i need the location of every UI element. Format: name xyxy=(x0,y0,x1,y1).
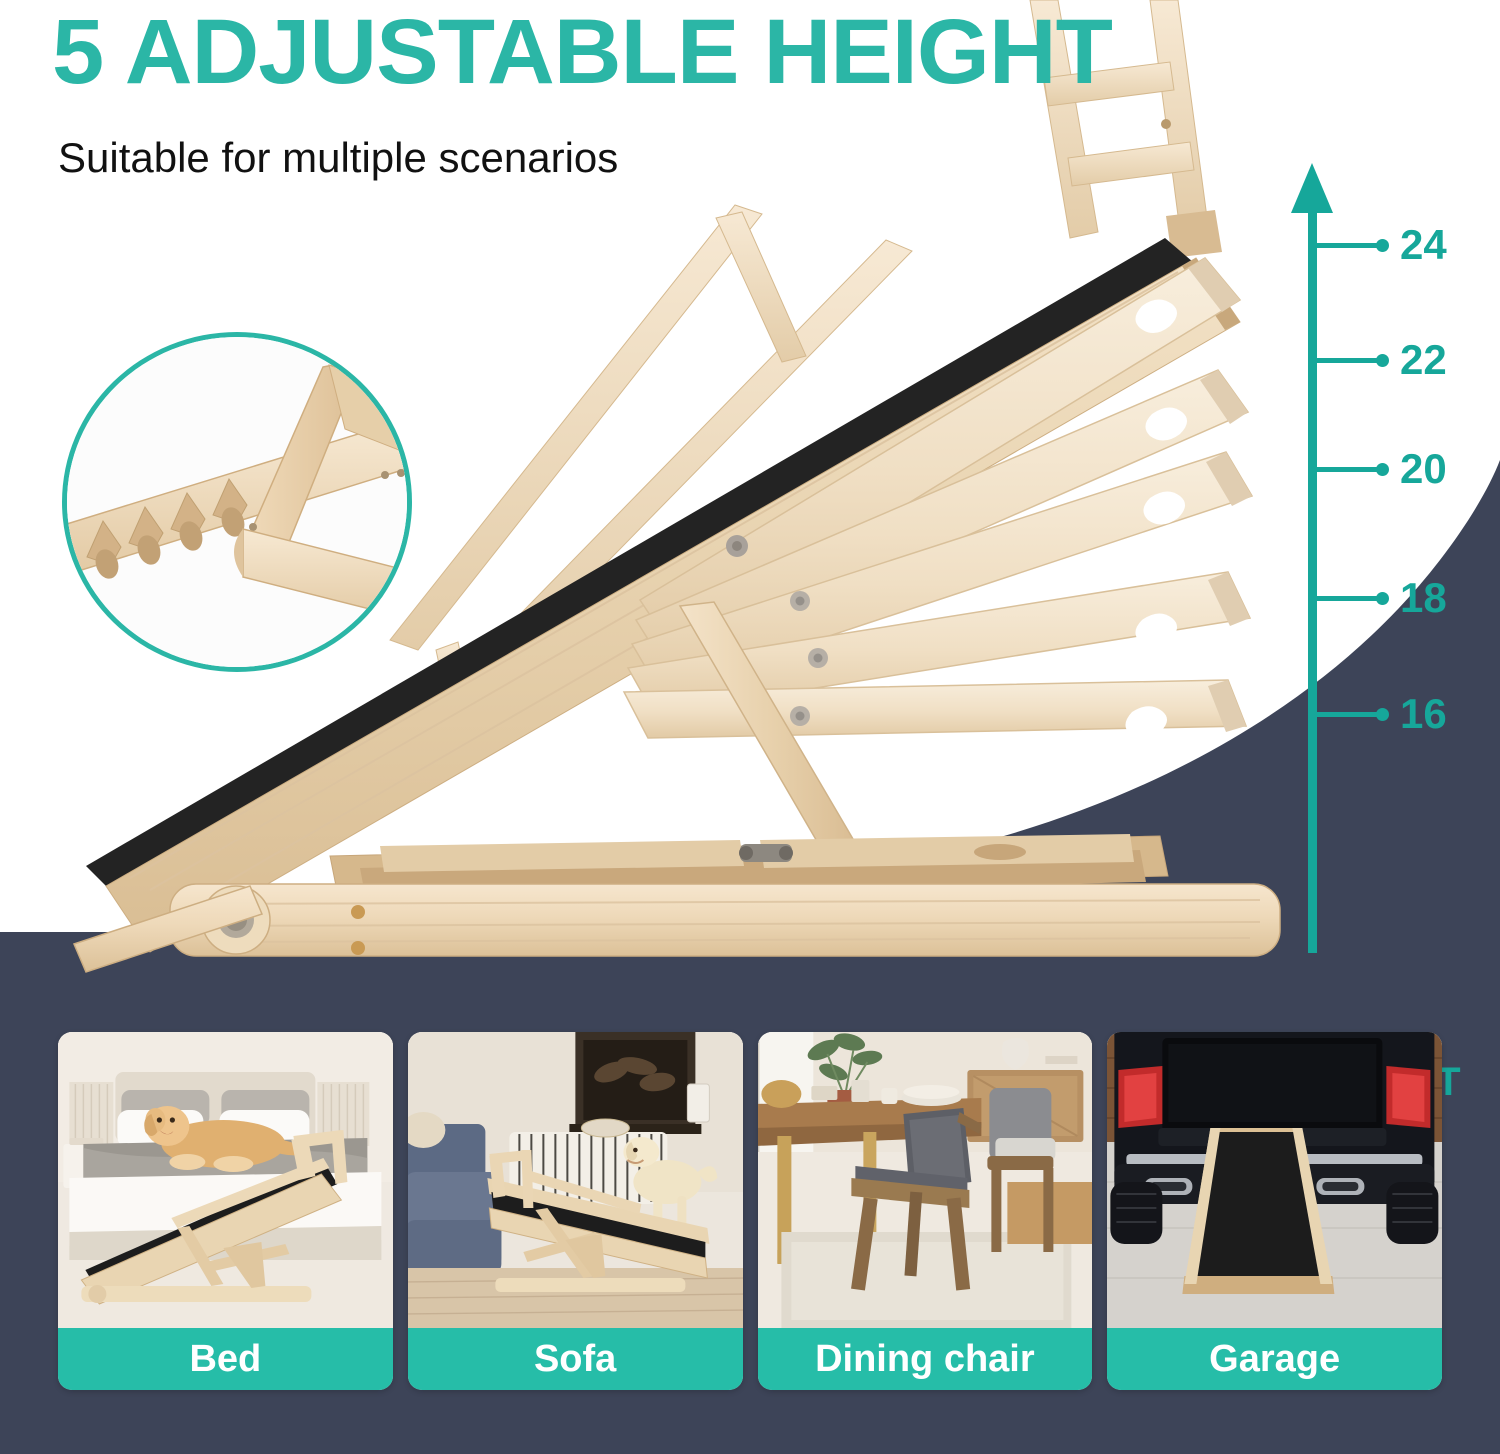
scenario-card-row: Bed xyxy=(0,1032,1500,1392)
tick-mark xyxy=(1312,467,1380,472)
scenario-photo-sofa xyxy=(408,1032,743,1328)
scenario-photo-bed xyxy=(58,1032,393,1328)
scenario-label-sofa: Sofa xyxy=(408,1328,743,1390)
scenario-card-dining-chair[interactable]: Dining chair xyxy=(758,1032,1093,1390)
tick-dot-icon xyxy=(1376,354,1389,367)
scenario-label-garage: Garage xyxy=(1107,1328,1442,1390)
scenario-card-bed[interactable]: Bed xyxy=(58,1032,393,1390)
tick-label: 20 xyxy=(1400,448,1447,490)
scenario-photo-dining-chair xyxy=(758,1032,1093,1328)
tick-label: 18 xyxy=(1400,577,1447,619)
tick-label: 16 xyxy=(1400,693,1447,735)
tick-mark xyxy=(1312,712,1380,717)
axis-line xyxy=(1308,208,1317,953)
tick-dot-icon xyxy=(1376,708,1389,721)
tick-label: 24 xyxy=(1400,224,1447,266)
scenario-label-bed: Bed xyxy=(58,1328,393,1390)
scenario-card-garage[interactable]: Garage xyxy=(1107,1032,1442,1390)
axis-arrow-icon xyxy=(1291,163,1333,213)
height-scale: 24 22 20 18 16 HEIGHT xyxy=(1280,160,1500,960)
tick-dot-icon xyxy=(1376,592,1389,605)
scenario-photo-garage xyxy=(1107,1032,1442,1328)
tick-dot-icon xyxy=(1376,239,1389,252)
scenario-label-dining-chair: Dining chair xyxy=(758,1328,1093,1390)
tick-mark xyxy=(1312,243,1380,248)
scenario-card-sofa[interactable]: Sofa xyxy=(408,1032,743,1390)
tick-dot-icon xyxy=(1376,463,1389,476)
page-title: 5 ADJUSTABLE HEIGHT xyxy=(52,4,1112,101)
tick-label: 22 xyxy=(1400,339,1447,381)
tick-mark xyxy=(1312,596,1380,601)
infographic-page: 24 22 20 18 16 HEIGHT 5 ADJUSTABLE HEIGH… xyxy=(0,0,1500,1454)
tick-mark xyxy=(1312,358,1380,363)
page-subtitle: Suitable for multiple scenarios xyxy=(58,134,618,182)
detail-magnifier-circle xyxy=(62,332,412,672)
